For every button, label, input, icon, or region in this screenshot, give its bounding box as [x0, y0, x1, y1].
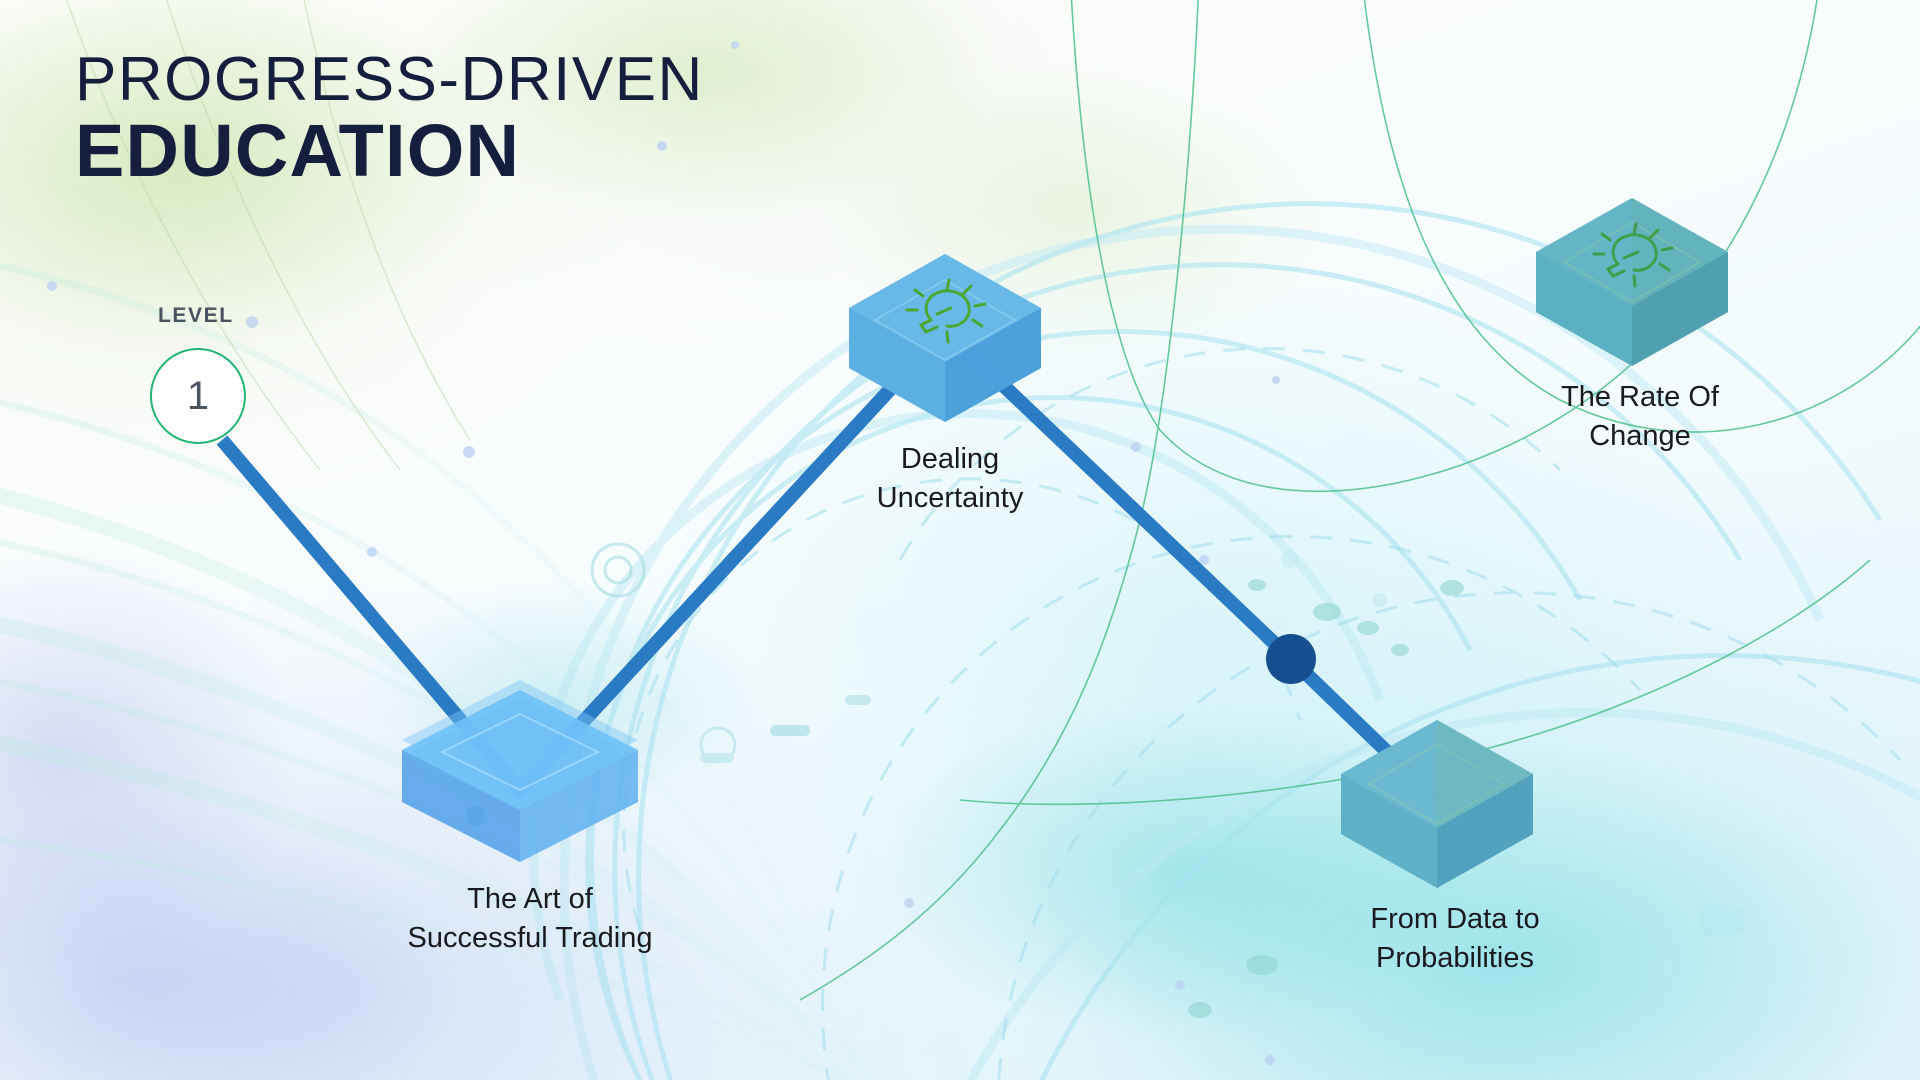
progress-marker-dot	[1266, 634, 1316, 684]
level-caption: LEVEL	[158, 304, 234, 328]
node-label-uncertainty: Dealing Uncertainty	[790, 440, 1110, 518]
title-line-secondary: EDUCATION	[75, 113, 704, 188]
page-title: PROGRESS-DRIVEN EDUCATION	[75, 48, 704, 189]
node-trading-shape[interactable]	[388, 676, 658, 876]
level-badge[interactable]: 1	[150, 348, 246, 444]
node-rate-of-change-shape[interactable]	[1532, 196, 1732, 368]
node-uncertainty-shape[interactable]	[845, 252, 1045, 424]
title-line-primary: PROGRESS-DRIVEN	[75, 48, 704, 111]
node-label-probabilities: From Data to Probabilities	[1290, 900, 1620, 978]
node-label-trading: The Art of Successful Trading	[370, 880, 690, 958]
slide-canvas: PROGRESS-DRIVEN EDUCATION LEVEL 1 Dealin…	[0, 0, 1920, 1080]
node-probabilities-shape[interactable]	[1337, 718, 1537, 890]
level-number: 1	[187, 376, 209, 416]
node-label-rate-of-change: The Rate Of Change	[1480, 378, 1800, 456]
